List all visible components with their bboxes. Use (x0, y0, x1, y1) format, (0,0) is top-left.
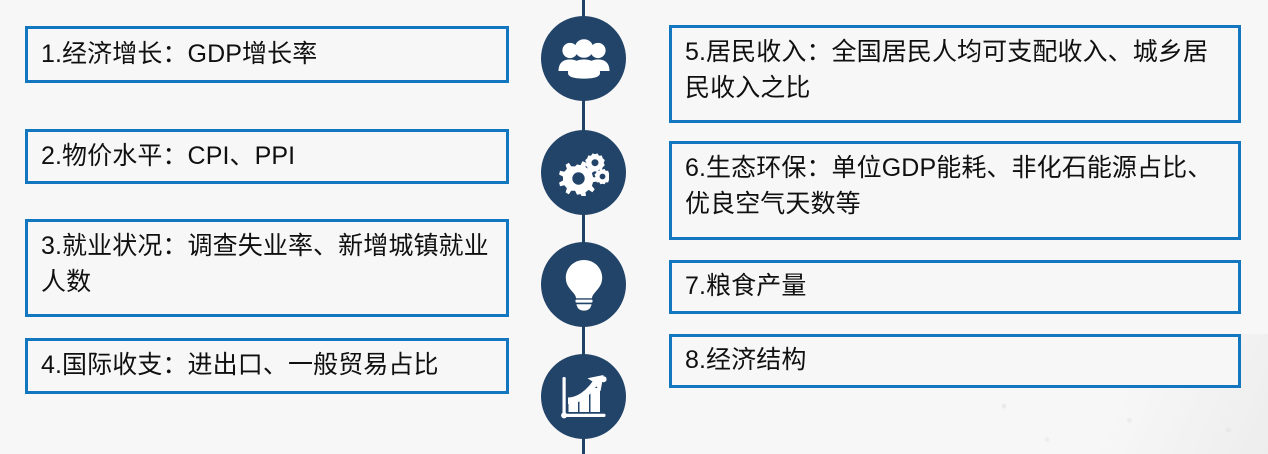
icon-node-lightbulb (541, 242, 626, 327)
indicator-box-8-label: 8.经济结构 (685, 343, 806, 379)
indicator-box-5-label: 5.居民收入：全国居民人均可支配收入、城乡居民收入之比 (685, 35, 1226, 106)
indicator-box-4-label: 4.国际收支：进出口、一般贸易占比 (41, 348, 439, 384)
indicator-box-5: 5.居民收入：全国居民人均可支配收入、城乡居民收入之比 (669, 25, 1241, 123)
indicator-box-6-label: 6.生态环保：单位GDP能耗、非化石能源占比、优良空气天数等 (685, 151, 1226, 222)
gears-icon (559, 150, 609, 196)
indicator-box-6: 6.生态环保：单位GDP能耗、非化石能源占比、优良空气天数等 (669, 141, 1241, 240)
indicator-box-2-label: 2.物价水平：CPI、PPI (41, 139, 295, 175)
connector-line-1 (582, 96, 585, 134)
indicator-box-1: 1.经济增长：GDP增长率 (25, 26, 509, 83)
indicator-box-3: 3.就业状况：调查失业率、新增城镇就业人数 (25, 219, 509, 317)
growth-chart-icon (559, 373, 609, 421)
icon-node-gears (541, 130, 626, 215)
indicator-flow-diagram: 1.经济增长：GDP增长率 2.物价水平：CPI、PPI 3.就业状况：调查失业… (0, 0, 1268, 454)
indicator-box-3-label: 3.就业状况：调查失业率、新增城镇就业人数 (41, 229, 494, 300)
people-group-icon (558, 39, 610, 79)
indicator-box-7-label: 7.粮食产量 (685, 269, 806, 305)
indicator-box-2: 2.物价水平：CPI、PPI (25, 129, 509, 184)
indicator-box-1-label: 1.经济增长：GDP增长率 (41, 37, 317, 73)
icon-node-growth-chart (541, 354, 626, 439)
indicator-box-4: 4.国际收支：进出口、一般贸易占比 (25, 338, 509, 394)
indicator-box-7: 7.粮食产量 (669, 260, 1241, 314)
icon-node-people-group (541, 16, 626, 101)
indicator-box-8: 8.经济结构 (669, 334, 1241, 388)
lightbulb-icon (564, 259, 604, 311)
